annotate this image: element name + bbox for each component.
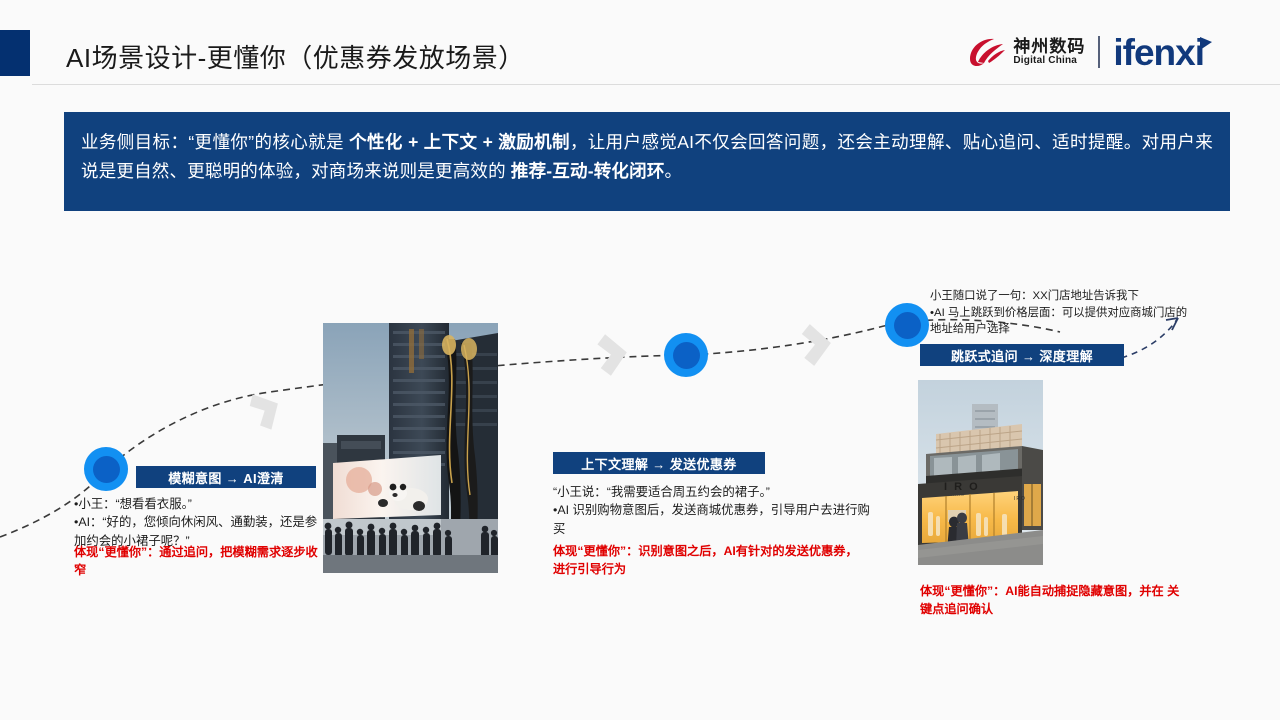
chevron-arrow-icon-3 [801, 322, 833, 367]
step-1-label[interactable]: 模糊意图 → AI澄清 [136, 466, 316, 488]
step-3-note-line-1: 小王随口说了一句：XX门店地址告诉我下 [930, 288, 1198, 305]
step-2-body-line-1: “小王说：“我需要适合周五约会的裙子。” [553, 483, 873, 501]
step-2-label[interactable]: 上下文理解 → 发送优惠券 [553, 452, 765, 474]
step-3-label[interactable]: 跳跃式追问 → 深度理解 [920, 344, 1124, 366]
step-3-note: 小王随口说了一句：XX门店地址告诉我下 •AI 马上跳跃到价格层面：可以提供对应… [930, 288, 1198, 338]
step-2-body-line-2: •AI 识别购物意图后，发送商城优惠券，引导用户去进行购买 [553, 501, 873, 538]
step-3-highlight: 体现“更懂你”：AI能自动捕捉隐藏意图，并在 关键点追问确认 [920, 582, 1190, 619]
step-1-highlight: 体现“更懂你”：通过追问，把模糊需求逐步收窄 [74, 543, 324, 580]
step-1-body-line-1: •小王：“想看看衣服。” [74, 495, 322, 513]
flow-node-2 [664, 333, 708, 377]
chevron-arrow-icon-2 [596, 332, 630, 377]
step-2-highlight: 体现“更懂你”：识别意图之后，AI有针对的发送优惠券，进行引导行为 [553, 542, 863, 579]
city-billboard-photo [323, 323, 498, 573]
step-3-note-line-2: •AI 马上跳跃到价格层面：可以提供对应商城门店的地址给用户选择 [930, 305, 1198, 338]
svg-text:PARIS: PARIS [948, 492, 965, 497]
svg-text:IRO: IRO [1014, 496, 1026, 502]
slide-root: AI场景设计-更懂你（优惠券发放场景） 神州数码 Digital China i… [0, 0, 1280, 720]
chevron-arrow-icon-1 [246, 386, 288, 434]
iro-storefront-photo: I R O PARIS IRO [918, 380, 1043, 565]
step-2-body: “小王说：“我需要适合周五约会的裙子。” •AI 识别购物意图后，发送商城优惠券… [553, 483, 873, 538]
step-1-body: •小王：“想看看衣服。” •AI：“好的，您倾向休闲风、通勤装，还是参加约会的小… [74, 495, 322, 550]
flow-node-1 [84, 447, 128, 491]
flow-node-3 [885, 303, 929, 347]
